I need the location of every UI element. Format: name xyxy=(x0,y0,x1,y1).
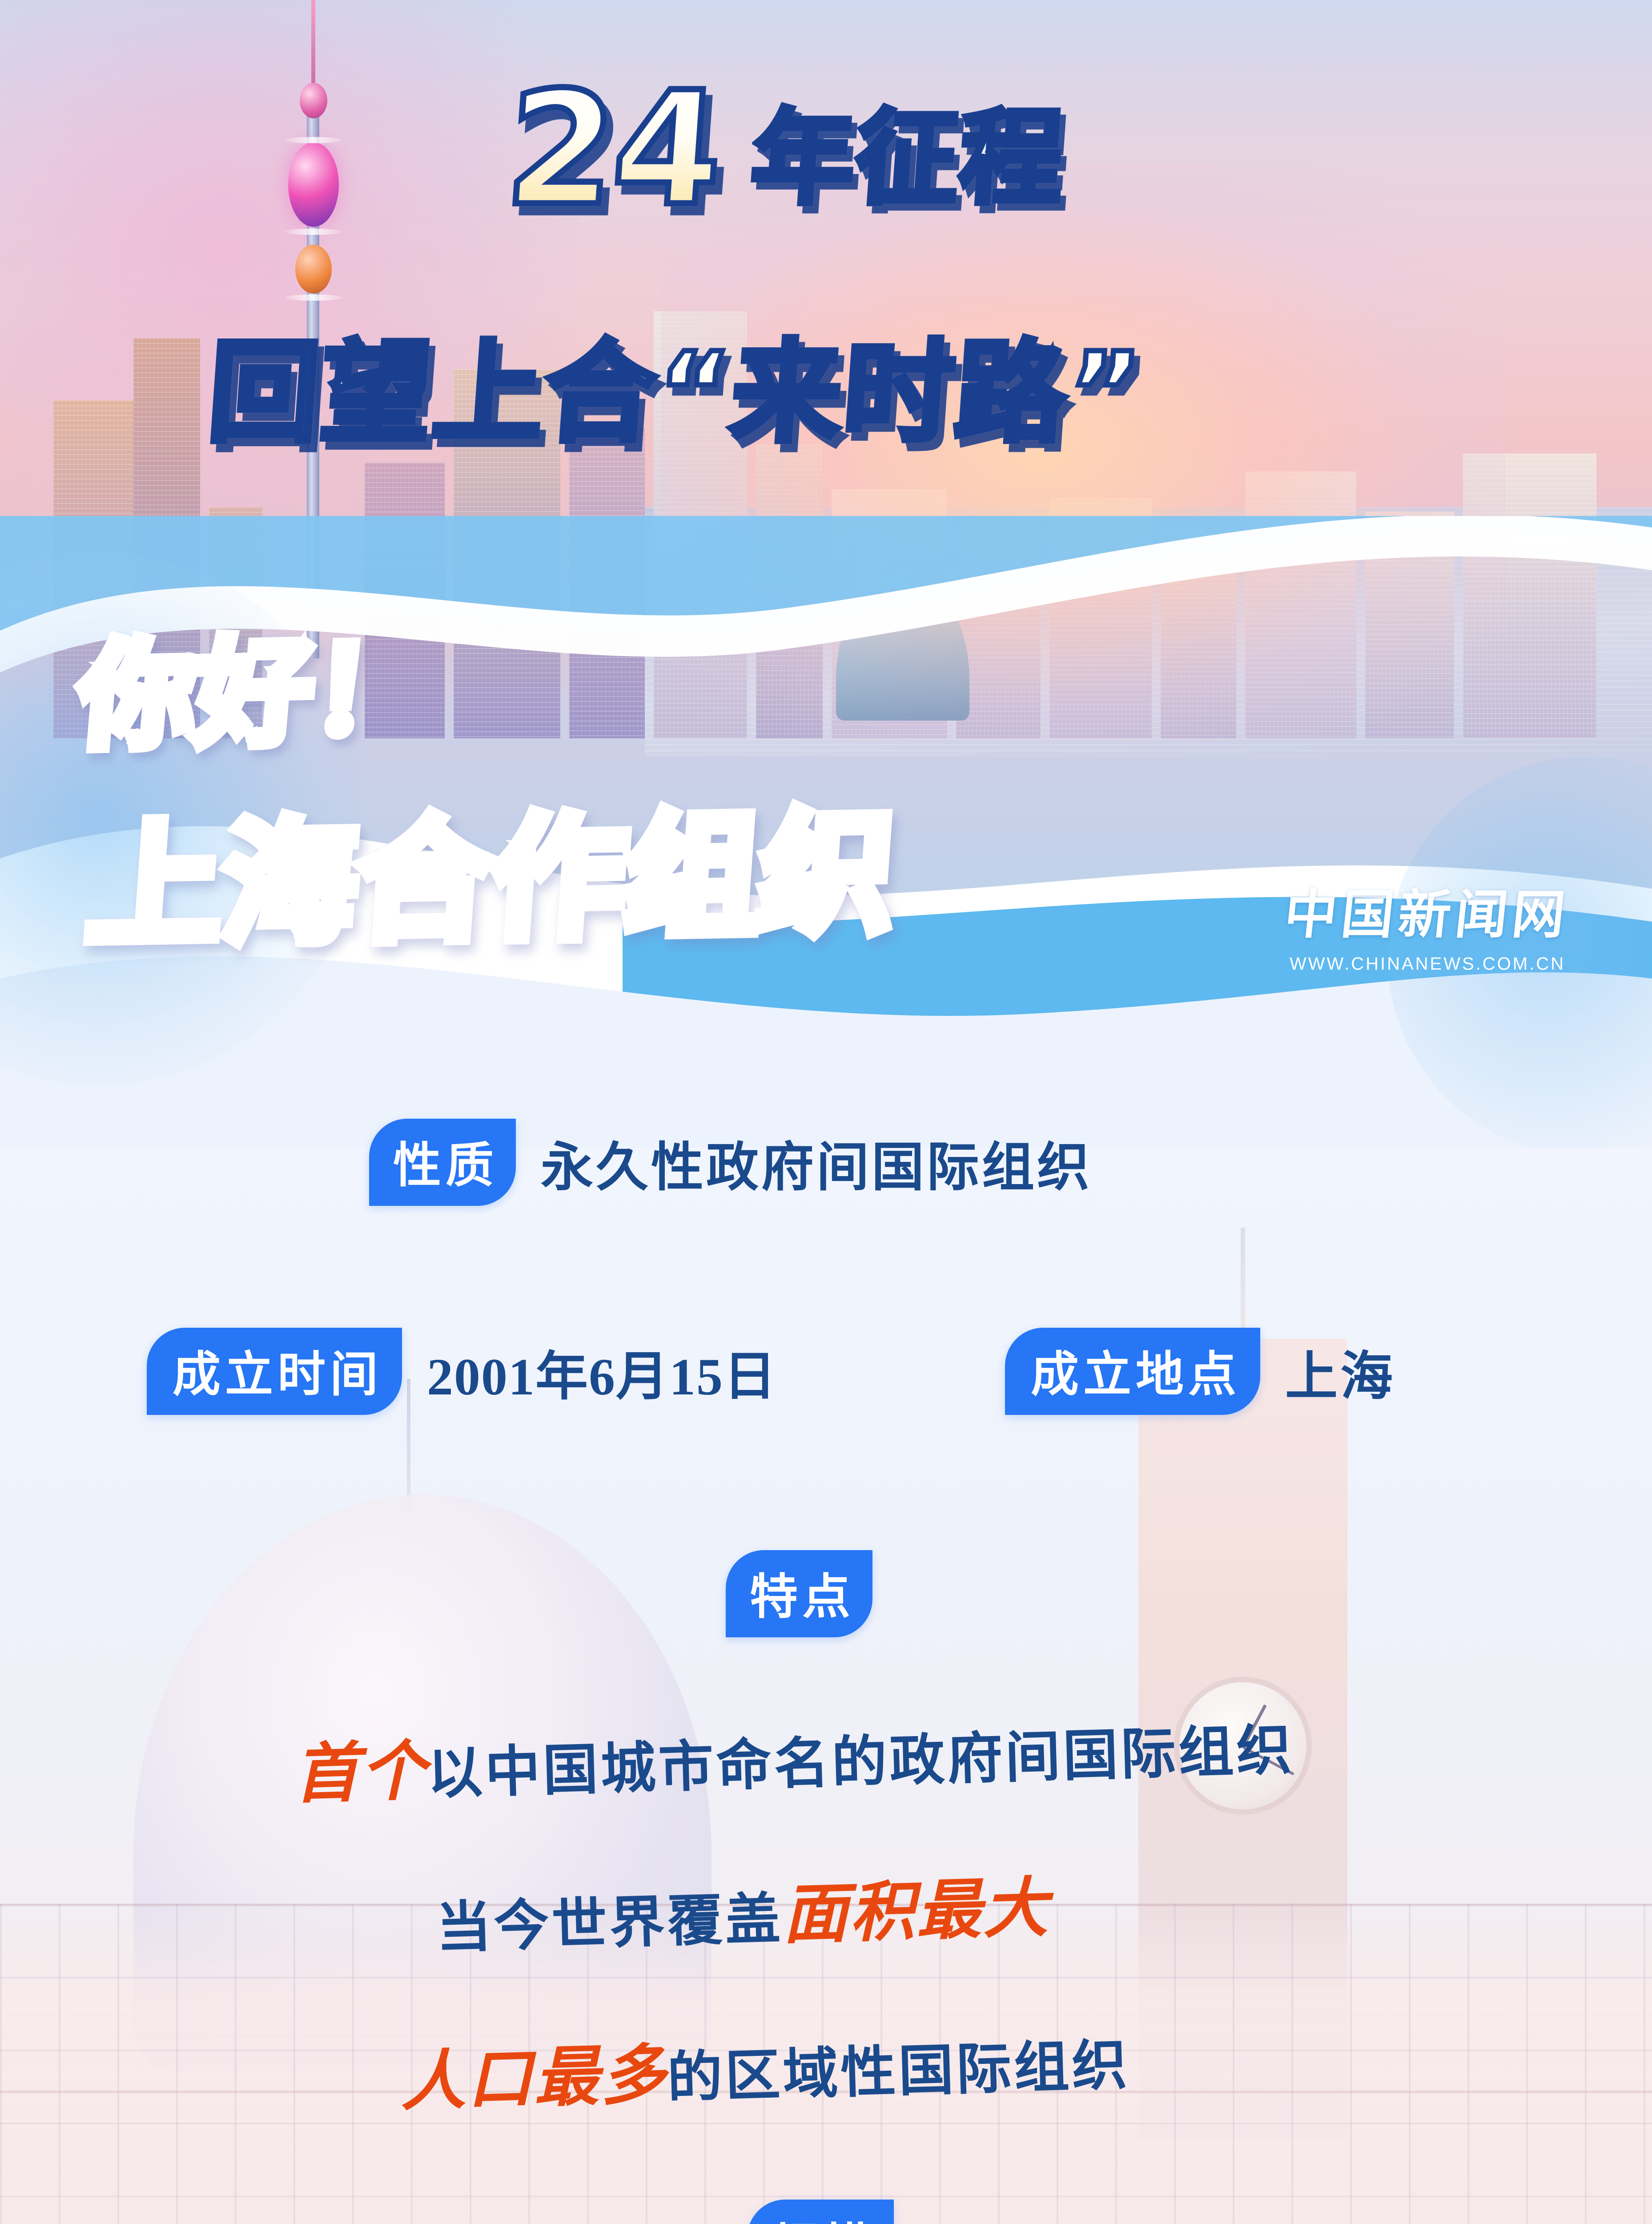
label-features: 特点 xyxy=(726,1550,872,1637)
headline-number: 24 xyxy=(502,71,725,228)
poster-root: 24 年征程 回望上合“来时路” 你好！ 上海合作组织 中国新闻网 WWW.CH… xyxy=(0,0,1652,2224)
value-founded-time: 2001年6月15日 xyxy=(427,1334,777,1410)
info-row-founded-time: 成立时间 2001年6月15日 xyxy=(147,1328,777,1415)
label-nature: 性质 xyxy=(369,1119,516,1206)
boat xyxy=(894,569,961,582)
value-founded-place: 上海 xyxy=(1285,1334,1395,1410)
huangpu-river xyxy=(645,507,1652,756)
section-features-header: 特点 xyxy=(726,1550,872,1637)
logo-name: 中国新闻网 xyxy=(1281,872,1574,948)
value-nature: 永久性政府间国际组织 xyxy=(541,1124,1092,1201)
section-scale-header: 规模 xyxy=(747,2200,894,2224)
boat xyxy=(1307,641,1350,650)
boat xyxy=(1081,603,1134,614)
boat xyxy=(1161,547,1210,558)
info-row-nature: 性质 永久性政府间国际组织 xyxy=(369,1119,1092,1206)
feature-2-highlight: 面积最大 xyxy=(782,1869,1051,1953)
feature-1-highlight: 首个 xyxy=(293,1732,428,1812)
organization-name: 上海合作组织 xyxy=(84,807,900,955)
label-scale: 规模 xyxy=(747,2200,894,2224)
headline-line2: 回望上合“来时路” xyxy=(205,338,1146,448)
feature-3-highlight: 人口最多 xyxy=(399,2036,668,2120)
label-founded-place: 成立地点 xyxy=(1005,1328,1260,1415)
greeting-text: 你好！ xyxy=(75,633,434,755)
chinanews-logo[interactable]: 中国新闻网 WWW.CHINANEWS.COM.CN xyxy=(1285,872,1570,974)
feature-2-prefix: 当今世界覆盖 xyxy=(435,1886,784,1961)
headline-suffix: 年征程 xyxy=(748,107,1067,210)
logo-url: WWW.CHINANEWS.COM.CN xyxy=(1285,954,1570,974)
label-founded-time: 成立时间 xyxy=(147,1328,402,1415)
info-row-founded-place: 成立地点 上海 xyxy=(1005,1328,1395,1415)
feature-line-2: 当今世界覆盖面积最大 xyxy=(434,1855,1050,1966)
feature-3-rest: 的区域性国际组织 xyxy=(667,2033,1131,2110)
riverside-dome xyxy=(836,574,969,721)
